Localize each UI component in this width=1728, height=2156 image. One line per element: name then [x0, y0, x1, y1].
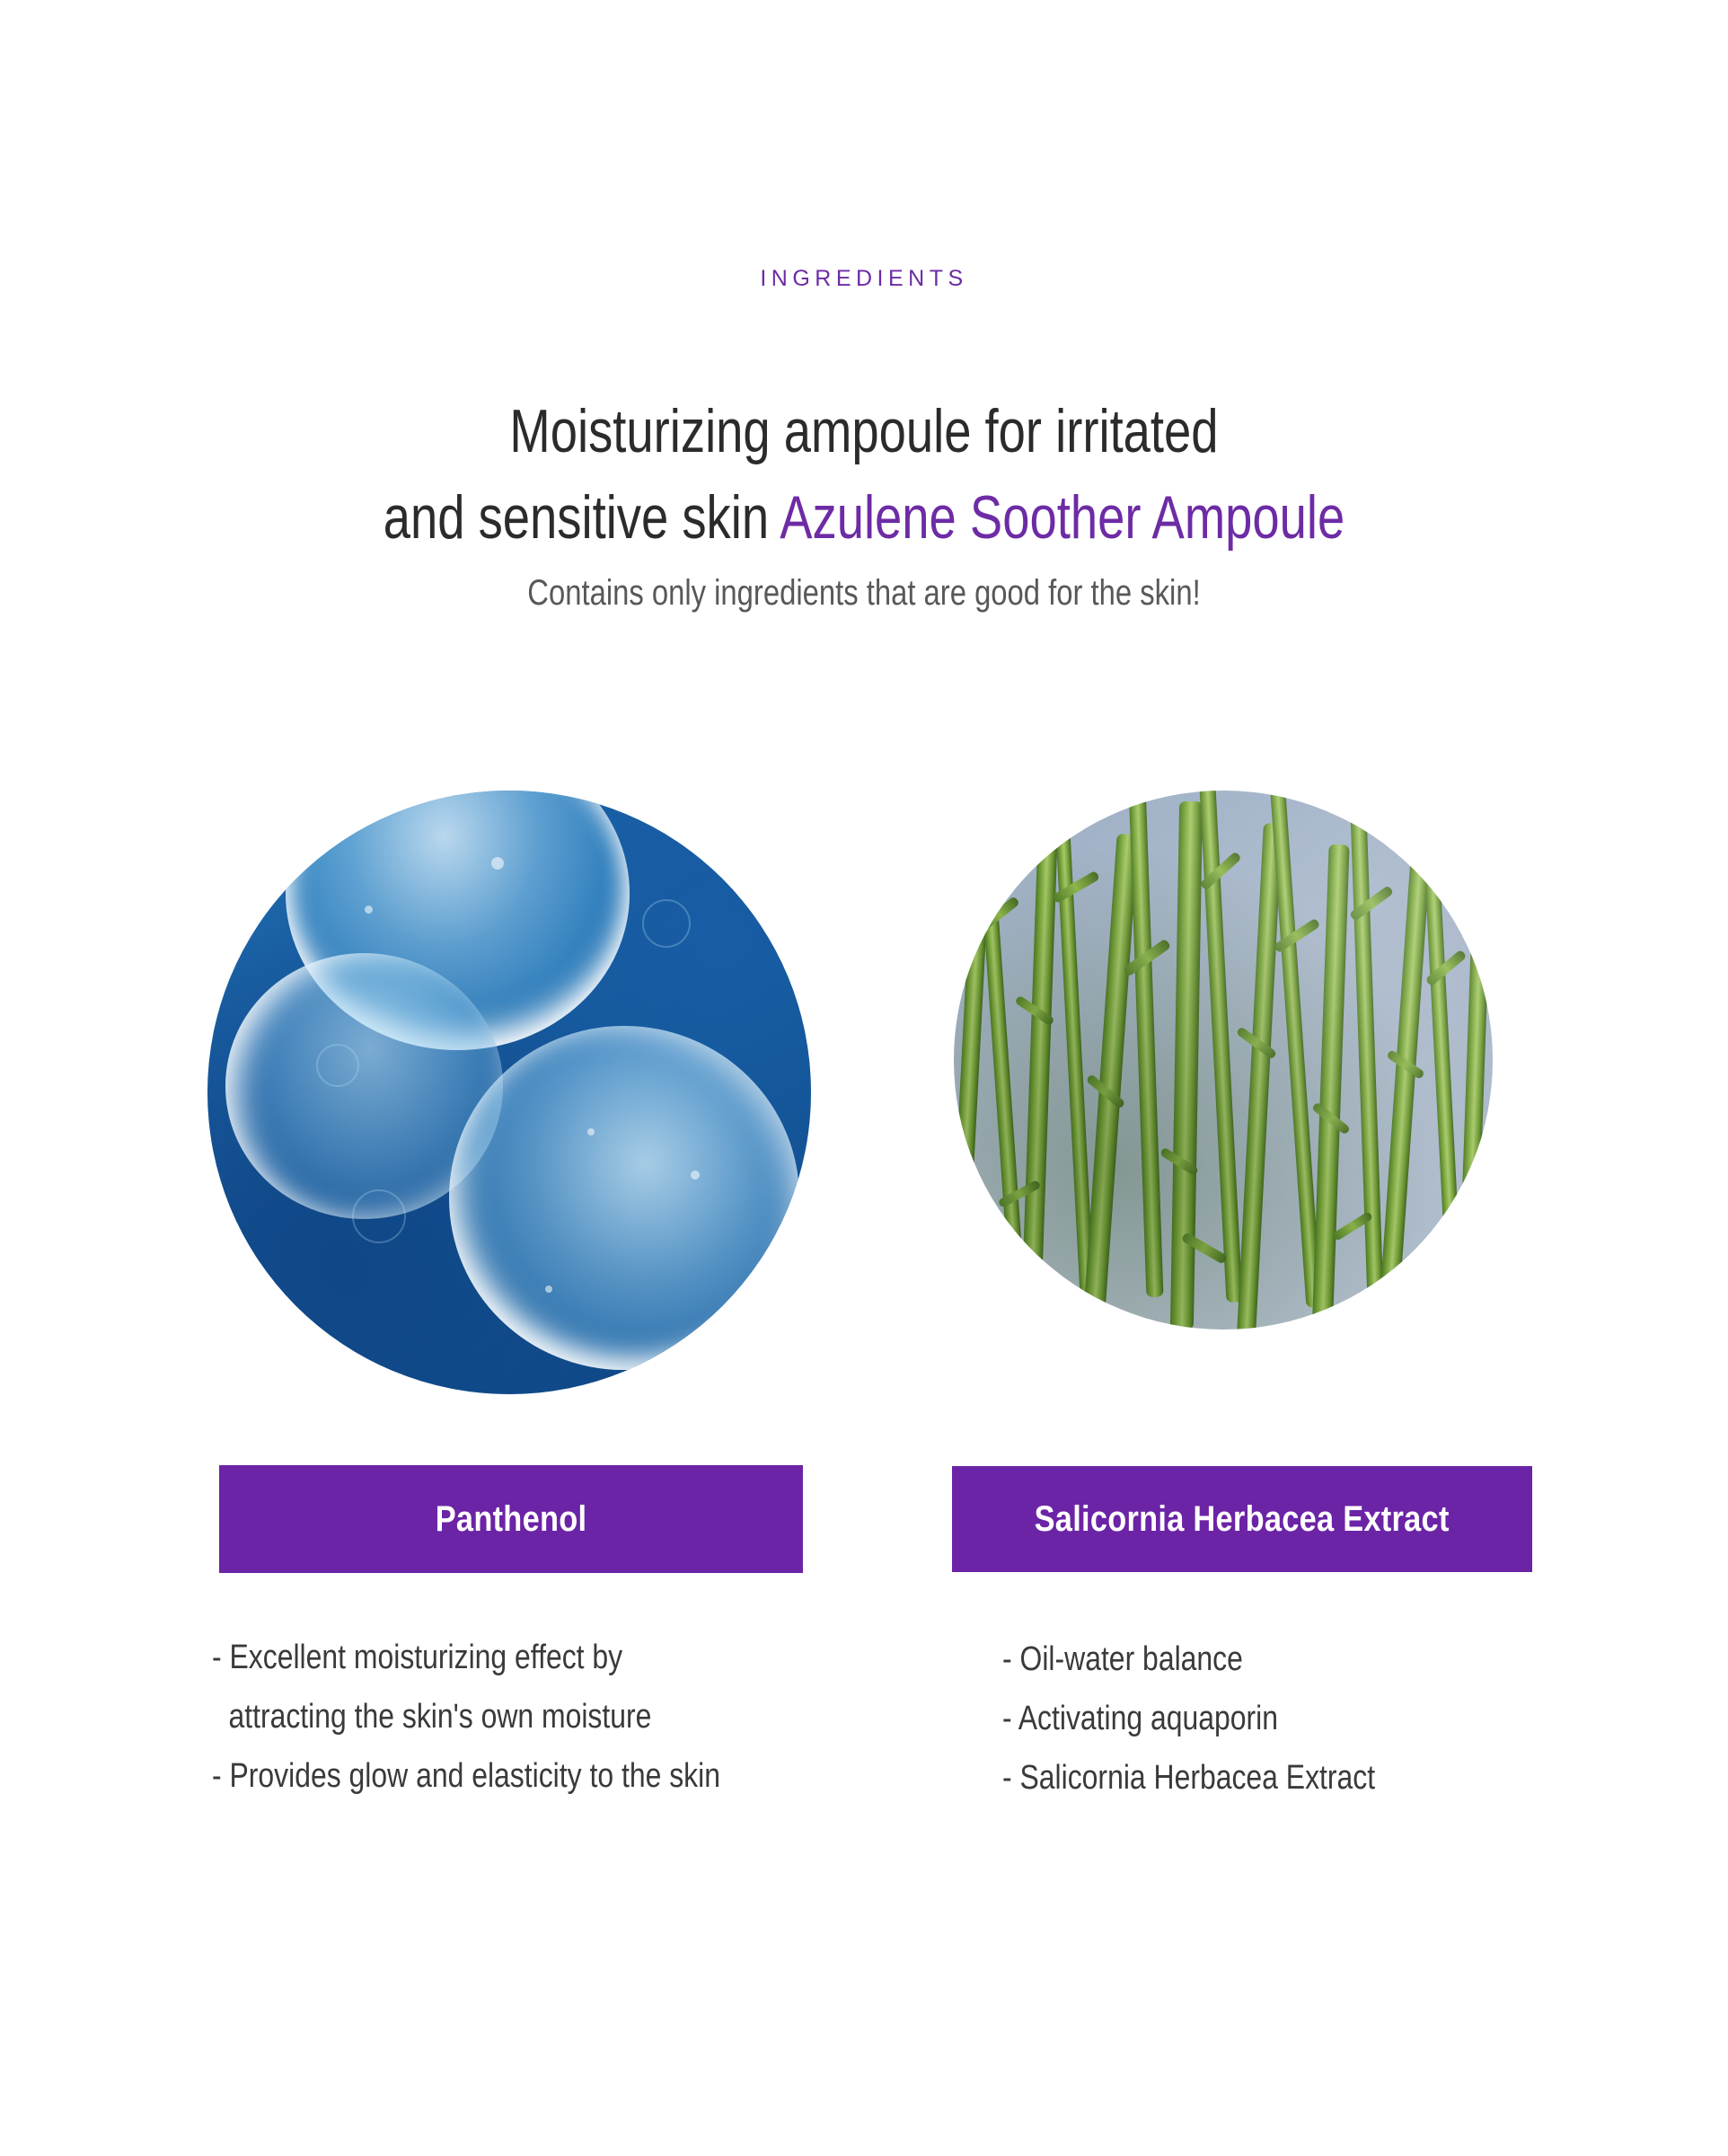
- bokeh-ring-2: [352, 1189, 406, 1243]
- droplet-bottom-right: [449, 1026, 799, 1370]
- headline-line-1: Moisturizing ampoule for irritated: [172, 388, 1555, 474]
- water-droplets-photo: [207, 791, 811, 1394]
- ingredient-label-bar-salicornia: Salicornia Herbacea Extract: [952, 1466, 1532, 1572]
- highlight-speck-1: [491, 857, 504, 870]
- section-eyebrow-label: INGREDIENTS: [0, 266, 1728, 292]
- highlight-speck-4: [691, 1171, 700, 1180]
- benefit-line: - Salicornia Herbacea Extract: [1002, 1748, 1375, 1807]
- page-title: Moisturizing ampoule for irritated and s…: [172, 388, 1555, 561]
- benefit-line: - Excellent moisturizing effect by: [212, 1628, 720, 1687]
- bokeh-ring-3: [642, 899, 691, 948]
- benefit-line: - Provides glow and elasticity to the sk…: [212, 1746, 720, 1806]
- ingredient-card-salicornia: [934, 791, 1554, 1330]
- page-subtitle: Contains only ingredients that are good …: [155, 573, 1573, 614]
- ingredient-label-text: Salicornia Herbacea Extract: [1035, 1499, 1450, 1540]
- plant-shading-overlay: [954, 791, 1493, 1330]
- ingredient-label-bar-panthenol: Panthenol: [219, 1465, 803, 1573]
- headline-product-name: Azulene Soother Ampoule: [780, 483, 1344, 552]
- benefit-line: - Activating aquaporin: [1002, 1689, 1375, 1748]
- headline-line-2-plain: and sensitive skin: [384, 483, 780, 552]
- ingredient-benefits-panthenol: - Excellent moisturizing effect by attra…: [212, 1628, 817, 1806]
- ingredient-benefits-salicornia: - Oil-water balance - Activating aquapor…: [1002, 1630, 1446, 1807]
- headline-line-2: and sensitive skin Azulene Soother Ampou…: [172, 474, 1555, 561]
- salicornia-plant-photo: [954, 791, 1493, 1330]
- ingredient-label-text: Panthenol: [436, 1499, 587, 1540]
- ingredients-page: INGREDIENTS Moisturizing ampoule for irr…: [0, 0, 1728, 2156]
- bokeh-ring-1: [316, 1044, 359, 1087]
- benefit-line: attracting the skin's own moisture: [212, 1687, 720, 1746]
- highlight-speck-2: [365, 906, 373, 914]
- benefit-line: - Oil-water balance: [1002, 1630, 1375, 1689]
- ingredient-card-panthenol: [199, 791, 819, 1394]
